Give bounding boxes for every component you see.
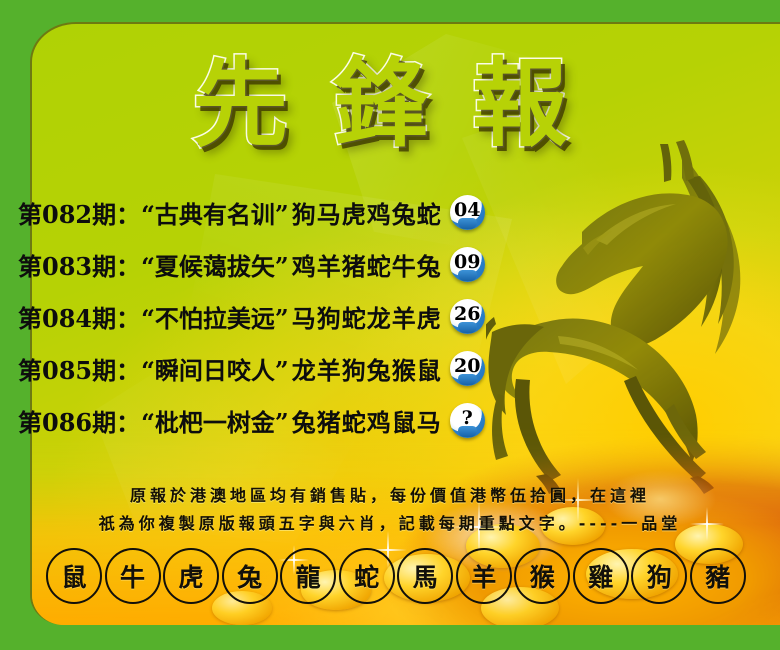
issue-label: 第086期：	[18, 403, 140, 438]
zodiac-sequence: 狗马虎鸡兔蛇	[292, 195, 442, 230]
zodiac-sequence: 马狗蛇龙羊虎	[292, 299, 442, 334]
lottery-ball: 20	[450, 351, 485, 386]
phrase-text: “夏候蔼拔矢”	[141, 247, 289, 282]
masthead-char-1: 先	[192, 56, 288, 152]
zodiac-badge-monkey: 猴	[514, 548, 570, 604]
lottery-ball: 09	[450, 247, 485, 282]
prediction-row: 第084期： “不怕拉美远” 马狗蛇龙羊虎 26	[18, 290, 538, 342]
zodiac-badge-pig: 豬	[690, 548, 746, 604]
zodiac-badge-horse: 馬	[397, 548, 453, 604]
prediction-row: 第085期： “瞬间日咬人” 龙羊狗兔猴鼠 20	[18, 342, 538, 394]
zodiac-badge-rooster: 雞	[573, 548, 629, 604]
lottery-ball-unknown: ?	[450, 403, 485, 438]
prediction-row: 第082期： “古典有名训” 狗马虎鸡兔蛇 04	[18, 186, 538, 238]
ball-number: 09	[454, 253, 480, 272]
lottery-ball: 04	[450, 195, 485, 230]
masthead-char-2: 鋒	[332, 56, 428, 152]
ball-number: 04	[454, 201, 480, 220]
zodiac-badge-dragon: 龍	[280, 548, 336, 604]
phrase-text: “枇杷一树金”	[141, 403, 289, 438]
notice-line-2: 祇為你複製原版報頭五字與六肖，記載每期重點文字。----一品堂	[0, 510, 780, 538]
prediction-row: 第083期： “夏候蔼拔矢” 鸡羊猪蛇牛兔 09	[18, 238, 538, 290]
phrase-text: “古典有名训”	[141, 195, 289, 230]
footer-notice: 原報於港澳地區均有銷售貼，每份價值港幣伍拾圓，在這裡 祇為你複製原版報頭五字與六…	[0, 482, 780, 538]
zodiac-sequence: 兔猪蛇鸡鼠马	[292, 403, 442, 438]
zodiac-strip: 鼠 牛 虎 兔 龍 蛇 馬 羊 猴 雞 狗 豬	[46, 548, 746, 604]
ball-number: 26	[454, 305, 480, 324]
issue-label: 第084期：	[18, 299, 140, 334]
zodiac-badge-ox: 牛	[105, 548, 161, 604]
zodiac-badge-tiger: 虎	[163, 548, 219, 604]
masthead-title: 先 鋒 報	[120, 44, 640, 164]
phrase-text: “不怕拉美远”	[141, 299, 289, 334]
prediction-list: 第082期： “古典有名训” 狗马虎鸡兔蛇 04 第083期： “夏候蔼拔矢” …	[18, 186, 538, 446]
issue-label: 第082期：	[18, 195, 140, 230]
phrase-text: “瞬间日咬人”	[141, 351, 289, 386]
zodiac-badge-rabbit: 兔	[222, 548, 278, 604]
ball-number: ?	[462, 409, 473, 428]
masthead-char-3: 報	[472, 56, 568, 152]
lottery-ball: 26	[450, 299, 485, 334]
zodiac-badge-dog: 狗	[631, 548, 687, 604]
ball-number: 20	[454, 357, 480, 376]
zodiac-sequence: 鸡羊猪蛇牛兔	[292, 247, 442, 282]
zodiac-badge-goat: 羊	[456, 548, 512, 604]
issue-label: 第085期：	[18, 351, 140, 386]
zodiac-sequence: 龙羊狗兔猴鼠	[292, 351, 442, 386]
issue-label: 第083期：	[18, 247, 140, 282]
zodiac-badge-snake: 蛇	[339, 548, 395, 604]
poster-canvas: 先 鋒 報 第082期： “古典有名训” 狗马虎鸡兔蛇 04 第083期： “夏…	[0, 0, 780, 650]
prediction-row: 第086期： “枇杷一树金” 兔猪蛇鸡鼠马 ?	[18, 394, 538, 446]
notice-line-1: 原報於港澳地區均有銷售貼，每份價值港幣伍拾圓，在這裡	[0, 482, 780, 510]
zodiac-badge-rat: 鼠	[46, 548, 102, 604]
